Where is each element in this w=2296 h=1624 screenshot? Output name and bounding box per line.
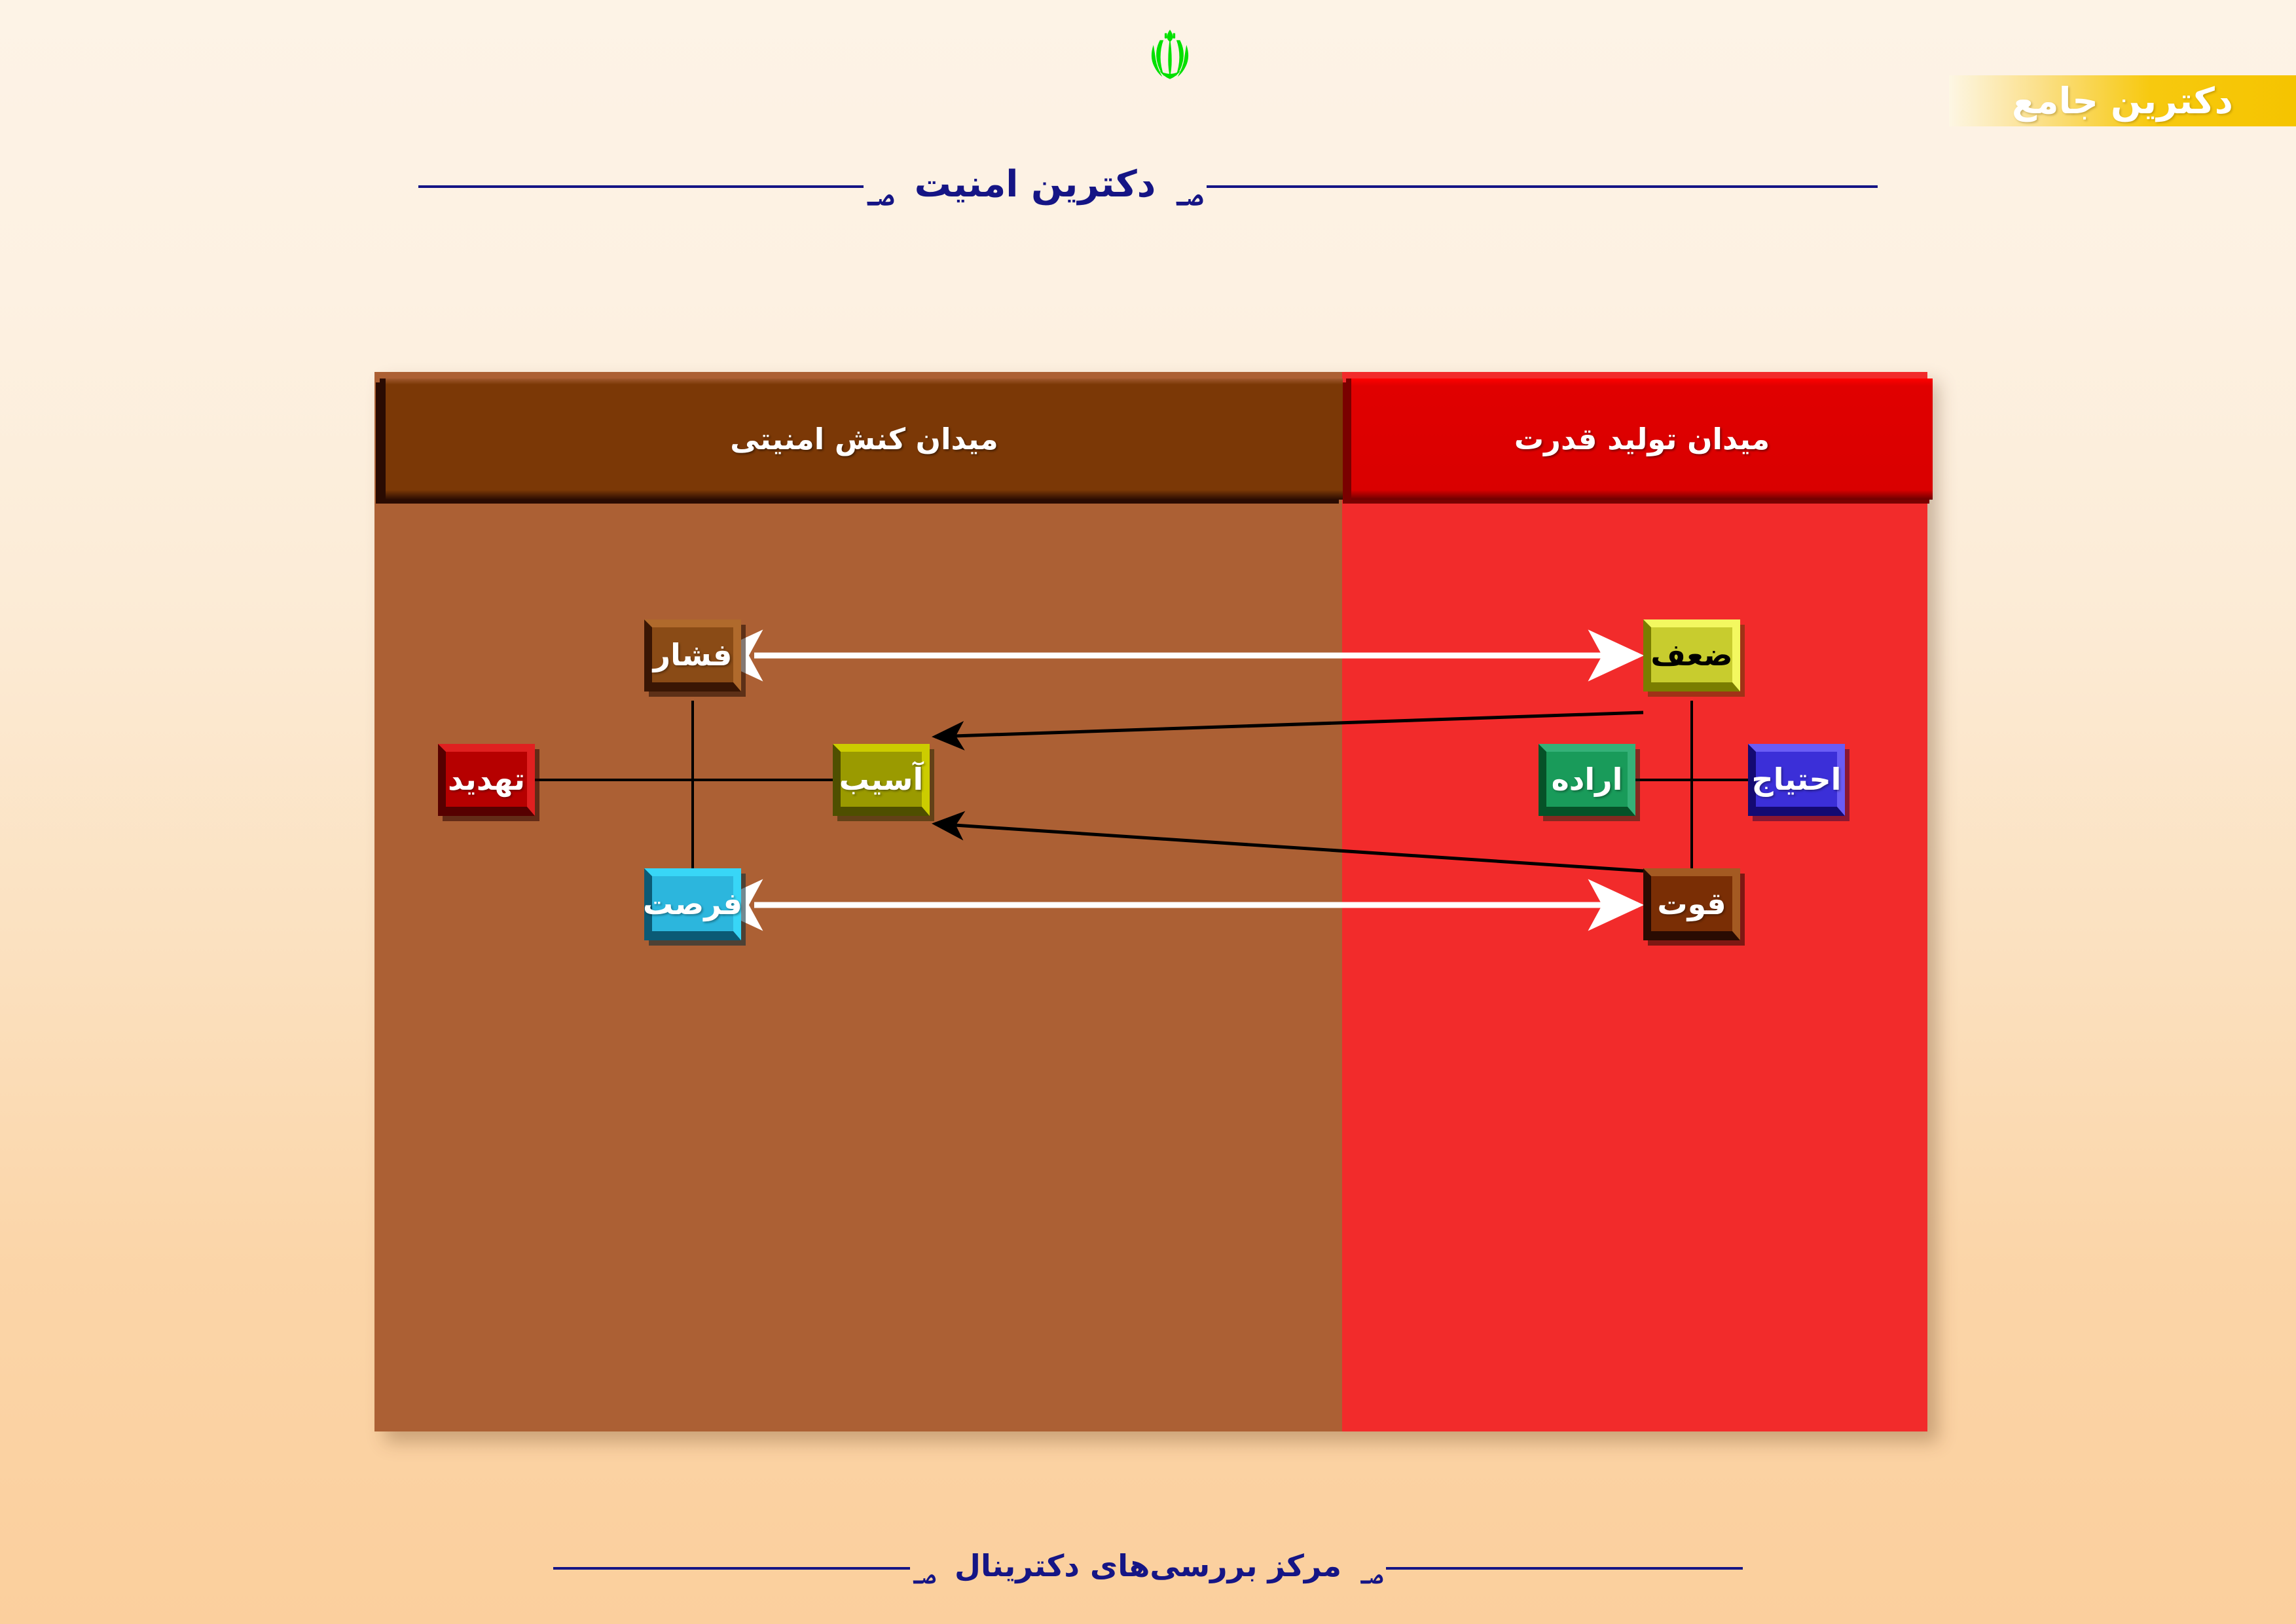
node-tahdid[interactable]: تهدید: [438, 744, 535, 816]
doctrine-badge[interactable]: دکترین جامع: [1949, 75, 2296, 126]
node-ehtiaj[interactable]: احتیاج: [1748, 744, 1845, 816]
node-forsat[interactable]: فرصت: [644, 868, 741, 940]
panel-header-label-right: میدان تولید قدرت: [1514, 422, 1770, 456]
node-ehtiaj-label: احتیاج: [1752, 762, 1842, 797]
node-ghovvat[interactable]: قوت: [1643, 868, 1740, 940]
node-forsat-label: فرصت: [643, 886, 742, 921]
footer-ornament-right-icon: ؃: [1360, 1544, 1383, 1585]
page-title: دکترین امنیت: [898, 163, 1173, 206]
node-feshar-label: فشار: [653, 637, 733, 673]
panel-security-action-field: [374, 372, 1342, 1431]
panel-header-power-production-field: میدان تولید قدرت: [1346, 378, 1933, 500]
footer-row: ؃ مرکز بررسی‌های دکترینال ؃: [0, 1532, 2296, 1604]
title-rule-right: [1207, 185, 1878, 188]
ornament-right-icon: ؃: [1175, 158, 1203, 207]
node-ghovvat-label: قوت: [1657, 886, 1726, 921]
ornament-left-icon: ؃: [866, 158, 894, 207]
footer-ornament-left-icon: ؃: [913, 1544, 936, 1585]
footer-rule-right: [1386, 1567, 1743, 1570]
node-erade[interactable]: اراده: [1539, 744, 1635, 816]
doctrine-badge-label: دکترین جامع: [2012, 80, 2233, 122]
title-rule-left: [418, 185, 864, 188]
node-tahdid-label: تهدید: [448, 762, 525, 797]
node-zaaf-label: ضعف: [1650, 637, 1732, 673]
footer-title: مرکز بررسی‌های دکترینال: [939, 1548, 1357, 1583]
page-title-row: ؃ دکترین امنیت ؃: [0, 157, 2296, 216]
footer-rule-left: [553, 1567, 910, 1570]
node-erade-label: اراده: [1552, 762, 1623, 797]
node-asib[interactable]: آسیب: [833, 744, 930, 816]
node-asib-label: آسیب: [839, 762, 923, 797]
panel-header-label-left: میدان کنش امنیتی: [730, 422, 998, 456]
iran-emblem-icon: [1140, 25, 1199, 84]
node-zaaf[interactable]: ضعف: [1643, 619, 1740, 692]
panel-power-production-field: [1342, 372, 1927, 1431]
security-doctrine-diagram: میدان کنش امنیتی میدان تولید قدرت: [374, 372, 1927, 1431]
panel-header-security-action-field: میدان کنش امنیتی: [380, 378, 1343, 500]
node-feshar[interactable]: فشار: [644, 619, 741, 692]
